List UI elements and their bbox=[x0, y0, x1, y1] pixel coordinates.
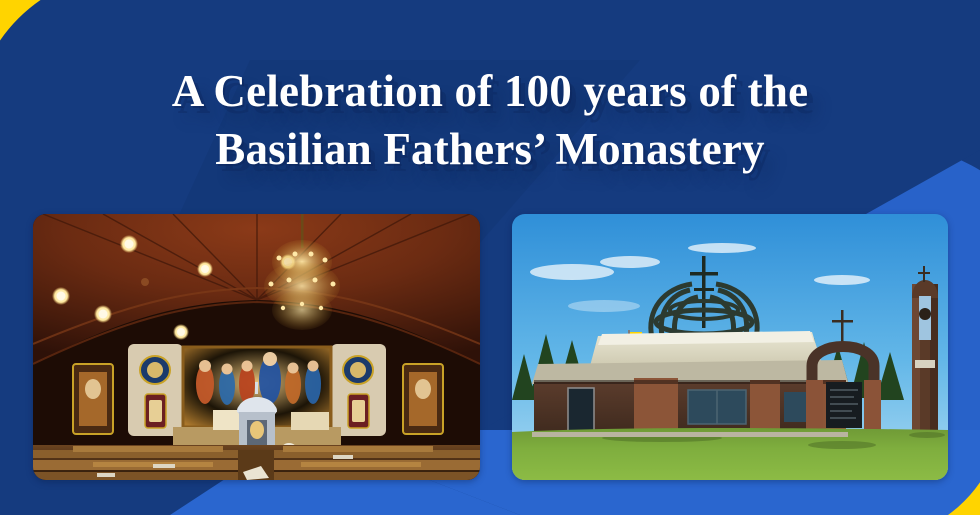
sidewalk bbox=[532, 432, 848, 437]
celebration-banner: A Celebration of 100 years of the Basili… bbox=[0, 0, 980, 515]
arch-plaque bbox=[826, 382, 862, 428]
brick-pier-2 bbox=[750, 380, 780, 436]
building-entrance-door bbox=[568, 388, 594, 434]
brick-pier-1 bbox=[634, 378, 678, 436]
photo-monastery-exterior: Exterior of the Basilian Fathers Monaste… bbox=[512, 214, 948, 480]
pews bbox=[33, 446, 480, 480]
dome-cross-horizontal bbox=[690, 272, 718, 276]
bell-tower bbox=[912, 266, 938, 432]
bell bbox=[919, 308, 931, 320]
building-window-2 bbox=[784, 392, 806, 422]
photo-church-interior: Interior of the monastery church bbox=[33, 214, 480, 480]
